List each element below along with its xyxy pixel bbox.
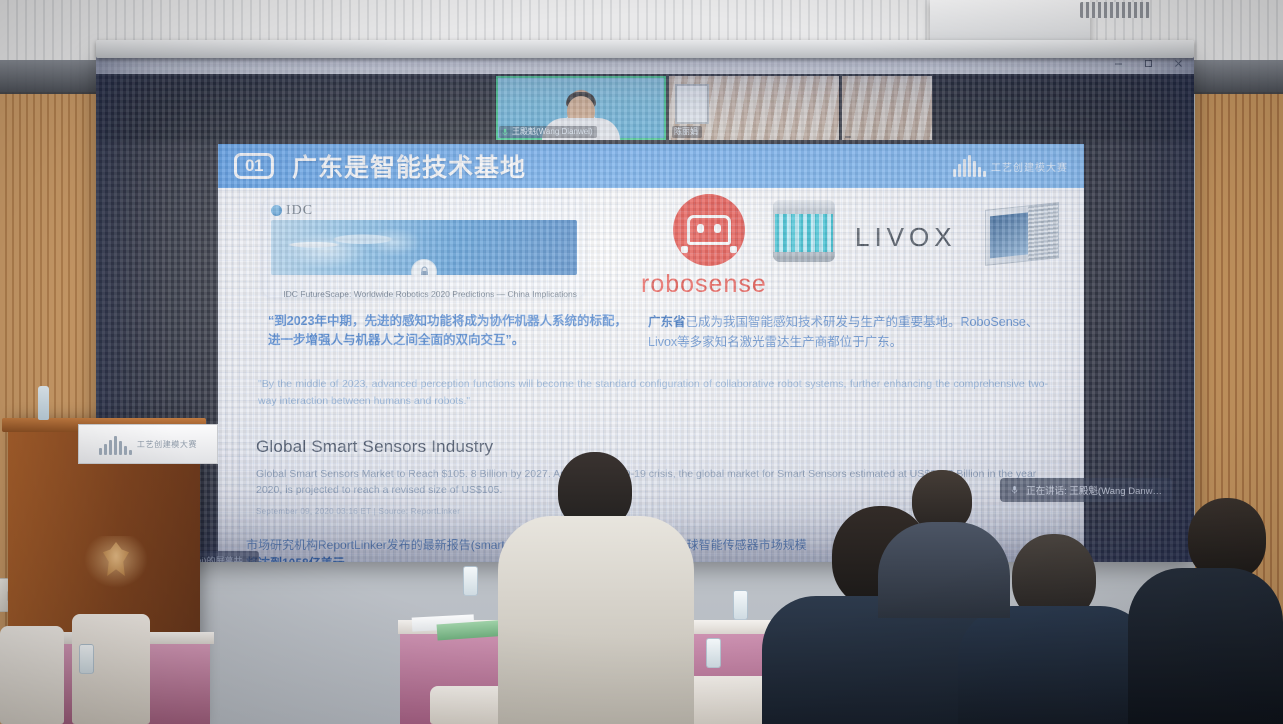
video-tile-strip: 王殿魁(Wang Dianwei) 陈丽娟 xyxy=(96,74,1194,142)
lock-icon xyxy=(411,259,437,275)
video-tile-speaker[interactable]: 王殿魁(Wang Dianwei) xyxy=(496,76,666,140)
video-tile-name-text: 陈丽娟 xyxy=(674,127,698,137)
projection-screen: 王殿魁(Wang Dianwei) 陈丽娟 xyxy=(96,52,1194,562)
robot-ear-right xyxy=(730,246,737,253)
slide-brand-text: 工艺创建模大赛 xyxy=(991,159,1068,174)
mic-icon xyxy=(1010,485,1019,495)
projection-screen-housing xyxy=(96,40,1194,58)
water-bottle-4 xyxy=(733,590,748,620)
active-speaker-text: 正在讲话: 王殿魁(Wang Danw… xyxy=(1026,483,1162,497)
livox-device-image xyxy=(985,202,1059,266)
room-scene: 王殿魁(Wang Dianwei) 陈丽娟 xyxy=(0,0,1283,724)
room-window-shape xyxy=(675,84,709,124)
mic-icon xyxy=(501,128,509,136)
video-tile-nameplate xyxy=(845,136,851,138)
livox-wordmark: LIVOX xyxy=(855,222,957,253)
idc-wordmark: IDC xyxy=(286,203,313,219)
robot-ear-left xyxy=(681,246,688,253)
video-tile-nameplate: 王殿魁(Wang Dianwei) xyxy=(499,126,597,138)
vendor-logo-row: robosense LIVOX xyxy=(633,194,1053,314)
guangdong-bold-text: 广东省 xyxy=(648,315,686,329)
robot-face-shape xyxy=(687,215,731,245)
bottom-zh-pre: 市场研究机构ReportLinker发布的最新报告 xyxy=(246,538,471,552)
video-tile-participant-2[interactable]: 陈丽娟 xyxy=(669,76,839,140)
water-bottle-1 xyxy=(463,566,478,596)
water-bottle-3 xyxy=(706,638,721,668)
active-speaker-toast: 正在讲话: 王殿魁(Wang Danw… xyxy=(1000,478,1172,502)
bottom-zh-bold: 将达到1058亿美元 xyxy=(246,556,345,562)
sound-bars-icon xyxy=(953,155,986,177)
idc-caption: IDC FutureScape: Worldwide Robotics 2020… xyxy=(271,289,577,300)
sound-bars-icon xyxy=(99,433,132,455)
slide-brand-logo: 工艺创建模大赛 xyxy=(953,155,1068,177)
slide-quote-english: "By the middle of 2023, advanced percept… xyxy=(258,376,1048,410)
podium-brand-panel: 工艺创建模大赛 xyxy=(78,424,218,464)
idc-world-map-image xyxy=(271,220,577,275)
lidar-cylinder-image xyxy=(773,200,835,262)
slide-header: 01 广东是智能技术基地 工艺创建模大赛 xyxy=(218,144,1084,188)
podium-brand-text: 工艺创建模大赛 xyxy=(137,439,197,450)
water-bottle-5 xyxy=(79,644,94,674)
globe-icon xyxy=(271,205,282,216)
water-bottle-podium xyxy=(38,386,49,420)
podium-emblem xyxy=(84,536,148,588)
news-title: Global Smart Sensors Industry xyxy=(256,437,1044,457)
guangdong-note-text: 已成为我国智能感知技术研发与生产的重要基地。RoboSense、Livox等多家… xyxy=(648,315,1038,349)
video-tile-nameplate: 陈丽娟 xyxy=(672,126,702,138)
slide-quote-chinese: “到2023年中期，先进的感知功能将成为协作机器人系统的标配，进一步增强人与机器… xyxy=(268,312,628,351)
idc-report-card: IDC IDC FutureScape: Worldwide Robotics … xyxy=(263,199,585,297)
video-tile-participant-3[interactable] xyxy=(842,76,932,140)
slide-number-badge: 01 xyxy=(234,153,274,179)
meeting-app-window: 王殿魁(Wang Dianwei) 陈丽娟 xyxy=(96,52,1194,562)
idc-logo: IDC xyxy=(271,203,577,218)
chair-far-left xyxy=(0,626,64,724)
robosense-logo-icon xyxy=(673,194,745,266)
slide-guangdong-note: 广东省已成为我国智能感知技术研发与生产的重要基地。RoboSense、Livox… xyxy=(648,312,1048,352)
robosense-wordmark: robosense xyxy=(641,270,767,299)
video-tile-name-text: 王殿魁(Wang Dianwei) xyxy=(512,127,593,137)
slide-title: 广东是智能技术基地 xyxy=(292,148,526,184)
projector-vent-grille xyxy=(1080,2,1150,18)
